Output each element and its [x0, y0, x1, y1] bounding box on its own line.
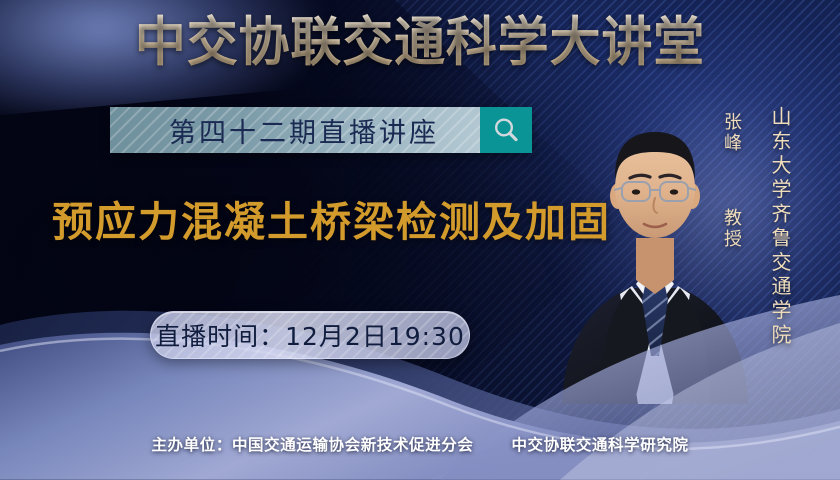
live-lecture-poster: 中交协联交通科学大讲堂 第四十二期直播讲座 预应力混凝土桥梁检测及加固 直播时间…	[0, 0, 840, 480]
live-time-pill: 直播时间：12月2日19:30	[150, 311, 470, 359]
search-button[interactable]	[480, 107, 532, 153]
speaker-rank: 教授	[718, 208, 744, 250]
live-time-label: 直播时间：12月2日19:30	[155, 317, 465, 353]
search-icon	[491, 115, 521, 145]
episode-subtitle-bar: 第四十二期直播讲座	[110, 107, 532, 153]
speaker-name: 张峰	[718, 112, 744, 154]
organizer-primary: 主办单位：中国交通运输协会新技术促进分会	[151, 436, 473, 454]
organizer-footer: 主办单位：中国交通运输协会新技术促进分会 中交协联交通科学研究院	[0, 433, 840, 455]
poster-headline: 中交协联交通科学大讲堂	[17, 14, 823, 71]
organizer-secondary: 中交协联交通科学研究院	[511, 436, 688, 454]
lecture-topic-title: 预应力混凝土桥梁检测及加固	[52, 188, 611, 248]
speaker-organization: 山东大学齐鲁交通学院	[766, 106, 795, 348]
episode-subtitle-background: 第四十二期直播讲座	[110, 107, 480, 153]
episode-subtitle-label: 第四十二期直播讲座	[151, 111, 439, 150]
